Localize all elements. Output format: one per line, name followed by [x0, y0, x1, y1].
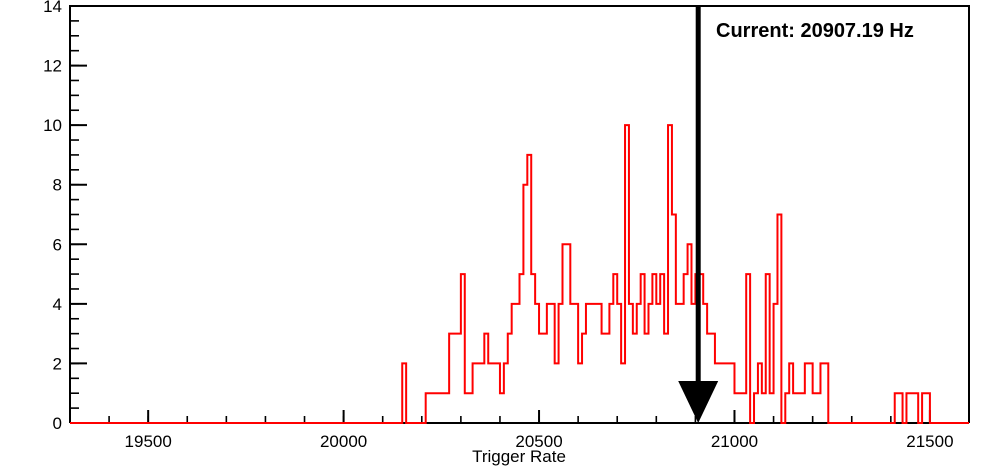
histogram-canvas: 1950020000205002100021500 02468101214 Tr… [0, 0, 996, 472]
current-value-label: Current: 20907.19 Hz [716, 20, 914, 42]
x-axis-title: Trigger Rate [472, 447, 566, 466]
x-tick-label: 21500 [906, 432, 953, 451]
trigger-rate-histogram: 1950020000205002100021500 02468101214 Tr… [0, 0, 996, 472]
x-tick-label: 19500 [125, 432, 172, 451]
x-tick-label: 20000 [320, 432, 367, 451]
y-tick-label: 12 [43, 57, 62, 76]
y-tick-label: 0 [53, 414, 62, 433]
y-tick-label: 8 [53, 176, 62, 195]
y-tick-label: 14 [43, 0, 62, 16]
y-tick-label: 6 [53, 235, 62, 254]
x-tick-label: 21000 [711, 432, 758, 451]
y-tick-label: 2 [53, 354, 62, 373]
canvas-background [0, 0, 996, 472]
y-tick-label: 4 [53, 295, 62, 314]
y-tick-label: 10 [43, 116, 62, 135]
